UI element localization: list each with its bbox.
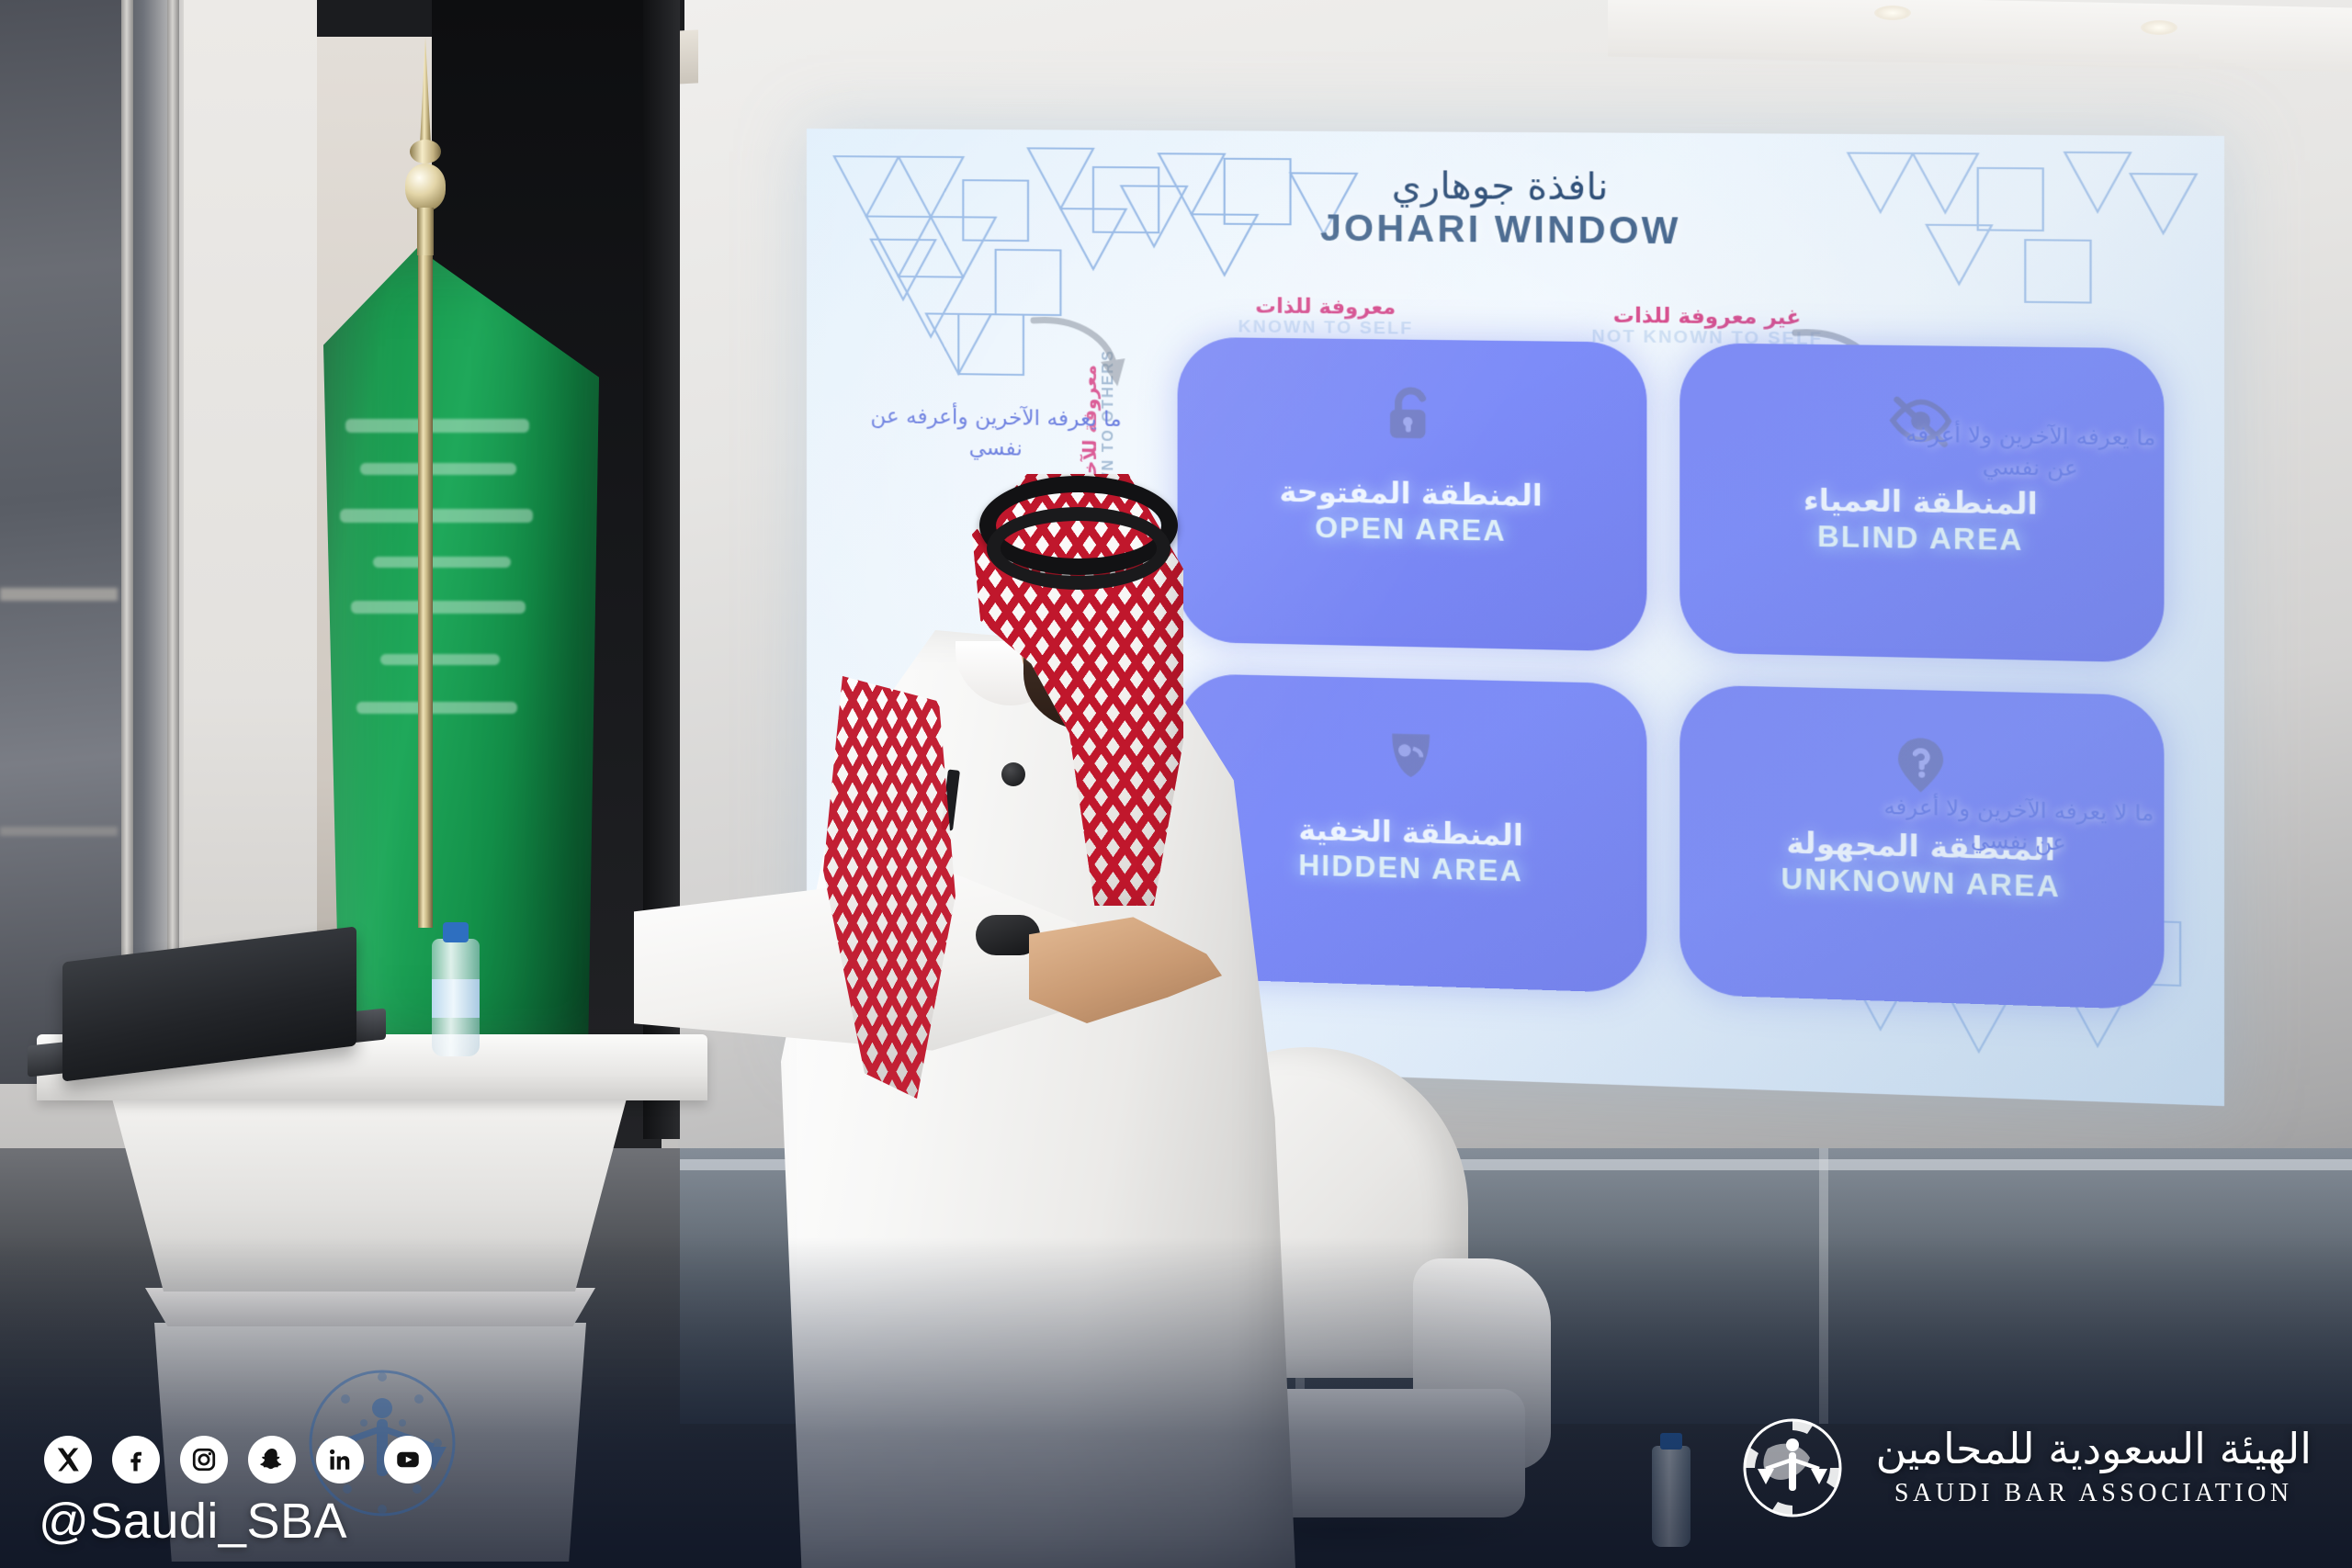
social-icons-row (44, 1436, 432, 1483)
head (972, 474, 1183, 750)
sba-logo-text: الهيئة السعودية للمحامين SAUDI BAR ASSOC… (1876, 1427, 2312, 1508)
globe-scales-figure-icon (1733, 1408, 1852, 1528)
lapel-microphone (1001, 762, 1025, 786)
snapchat-icon[interactable] (248, 1436, 296, 1483)
flag-pole (418, 230, 433, 928)
organization-name-english: SAUDI BAR ASSOCIATION (1894, 1479, 2293, 1508)
window-mullion (167, 0, 179, 1084)
window-mullion (121, 0, 133, 1084)
ceiling-light (1874, 6, 1911, 20)
flag-finial (404, 37, 447, 257)
social-handle: @Saudi_SBA (39, 1493, 347, 1550)
presentation-photo: نافذة جوهاري JOHARI WINDOW معروفة للذات … (0, 0, 2352, 1568)
glass-pane (0, 0, 121, 1084)
glass-wall (0, 0, 184, 1084)
igal-cord (987, 507, 1170, 590)
youtube-icon[interactable] (384, 1436, 432, 1483)
instagram-icon[interactable] (180, 1436, 228, 1483)
organization-name-arabic: الهيئة السعودية للمحامين (1876, 1427, 2312, 1470)
flag-shahada-script (323, 395, 599, 854)
interior-light-reflection (0, 827, 118, 836)
water-bottle-podium (432, 939, 480, 1056)
interior-light-reflection (0, 588, 118, 601)
x-icon[interactable] (44, 1436, 92, 1483)
facebook-icon[interactable] (112, 1436, 160, 1483)
ceiling-light (2141, 20, 2177, 35)
linkedin-icon[interactable] (316, 1436, 364, 1483)
sba-logo: الهيئة السعودية للمحامين SAUDI BAR ASSOC… (1733, 1408, 2312, 1528)
